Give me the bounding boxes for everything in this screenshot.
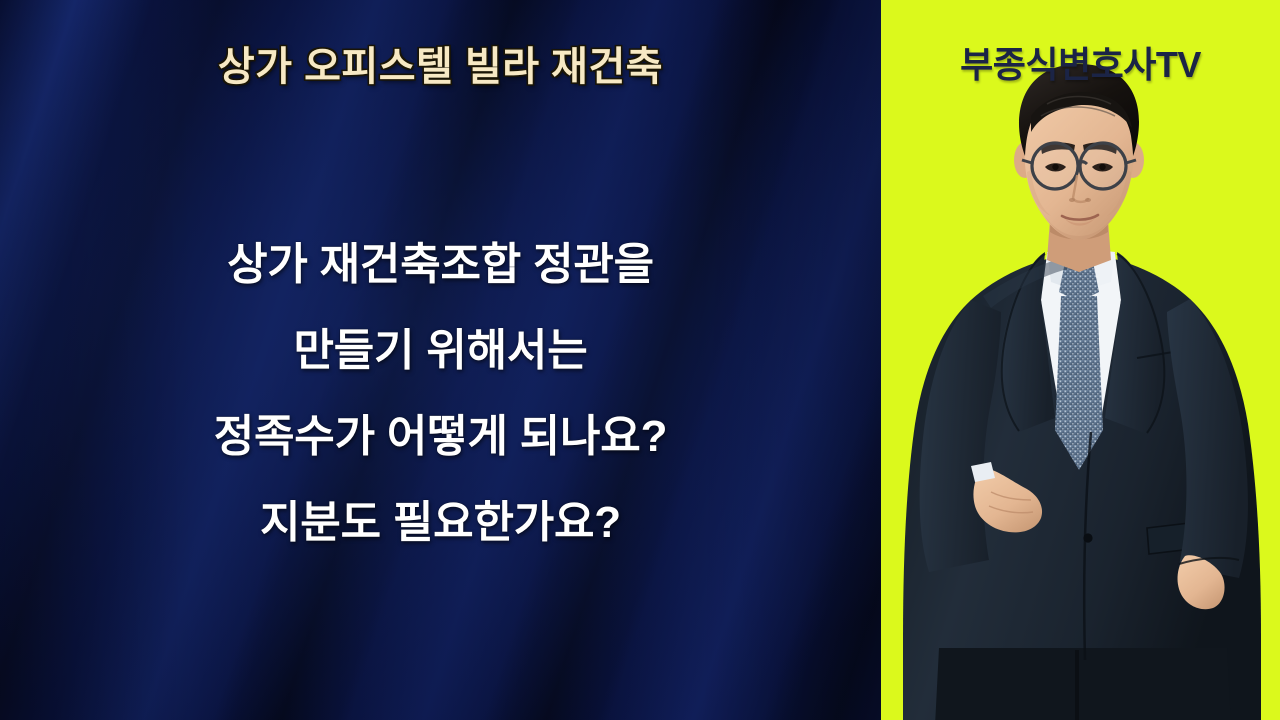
headline-line-2: 만들기 위해서는 [0,308,881,394]
headline-line-3: 정족수가 어떻게 되나요? [0,394,881,480]
jacket-button [1083,533,1092,542]
pupil-right [1099,164,1105,170]
headline-block: 상가 재건축조합 정관을 만들기 위해서는 정족수가 어떻게 되나요? 지분도 … [0,222,881,566]
right-green-panel: 부종식변호사TV [881,0,1280,720]
title-banner: 상가 오피스텔 빌라 재건축 [0,34,881,92]
headline-line-4: 지분도 필요한가요? [0,480,881,566]
channel-name: 부종식변호사TV [960,36,1201,88]
portrait-photo [881,0,1280,720]
left-navy-panel: 상가 오피스텔 빌라 재건축 상가 재건축조합 정관을 만들기 위해서는 정족수… [0,0,881,720]
page-title: 상가 오피스텔 빌라 재건축 [218,34,663,92]
portrait-figure [903,64,1261,720]
channel-name-banner: 부종식변호사TV [881,36,1280,88]
pupil-left [1052,164,1058,170]
nostril-right [1085,198,1091,202]
nostril-left [1069,198,1075,202]
trousers [935,648,1231,720]
headline-line-1: 상가 재건축조합 정관을 [0,222,881,308]
thumbnail-canvas: 상가 오피스텔 빌라 재건축 상가 재건축조합 정관을 만들기 위해서는 정족수… [0,0,1280,720]
trouser-crease [1075,650,1079,720]
portrait-svg [881,0,1280,720]
